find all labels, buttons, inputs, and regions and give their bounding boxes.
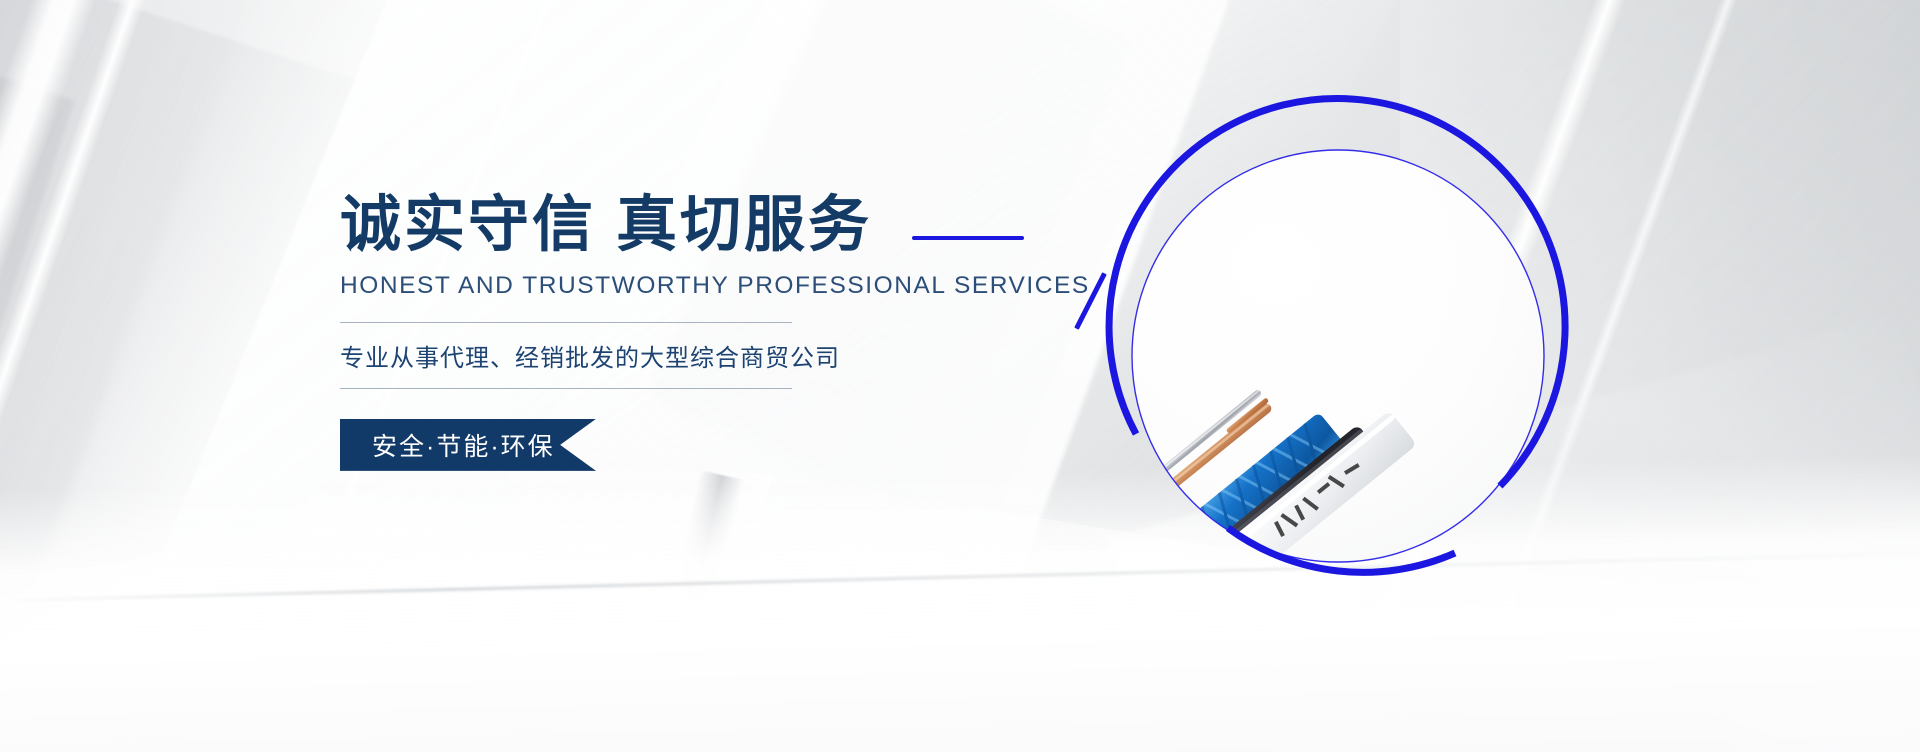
product-graphic [1110,128,1610,628]
decorative-blue-ring [1110,128,1610,628]
divider-bottom [340,388,792,389]
page-title: 诚实守信 真切服务 [340,192,960,258]
banner-text-block: 诚实守信 真切服务 HONEST AND TRUSTWORTHY PROFESS… [340,192,960,471]
subtitle-english: HONEST AND TRUSTWORTHY PROFESSIONAL SERV… [340,272,960,300]
subtitle-chinese: 专业从事代理、经销批发的大型综合商贸公司 [340,338,960,373]
promo-banner: 诚实守信 真切服务 HONEST AND TRUSTWORTHY PROFESS… [0,0,1920,752]
divider-top [340,322,792,323]
tagline-badge-label: 安全·节能·环保 [340,419,596,471]
background-gradient [0,0,1920,752]
tagline-badge[interactable]: 安全·节能·环保 [340,419,596,471]
